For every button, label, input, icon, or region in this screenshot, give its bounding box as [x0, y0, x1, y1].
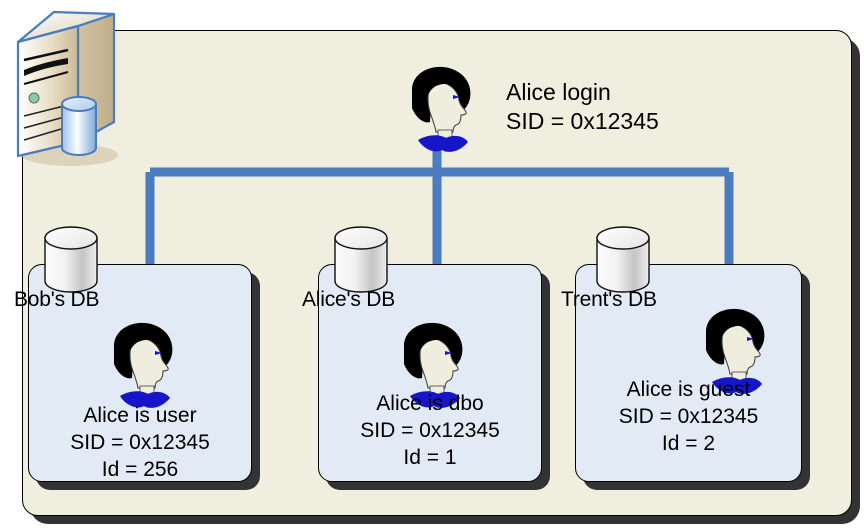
db-detail-line-2: SID = 0x12345 — [318, 417, 542, 444]
db-detail-line-2: SID = 0x12345 — [28, 429, 252, 456]
login-line-2: SID = 0x12345 — [506, 107, 659, 136]
db-label-bobs: Bob's DB — [14, 288, 99, 312]
db-detail-bobs: Alice is user SID = 0x12345 Id = 256 — [28, 402, 252, 483]
person-profile-icon — [100, 318, 184, 410]
db-label-alices: Alice's DB — [302, 288, 395, 312]
db-detail-line-2: SID = 0x12345 — [575, 403, 802, 430]
db-detail-trents: Alice is guest SID = 0x12345 Id = 2 — [575, 376, 802, 457]
db-detail-line-3: Id = 256 — [28, 456, 252, 483]
db-detail-line-3: Id = 2 — [575, 430, 802, 457]
database-cylinder-icon — [330, 225, 392, 297]
server-tower-icon — [4, 4, 132, 172]
login-text: Alice login SID = 0x12345 — [506, 78, 659, 136]
db-detail-line-1: Alice is user — [28, 402, 252, 429]
power-led-icon — [29, 93, 39, 103]
db-detail-line-3: Id = 1 — [318, 444, 542, 471]
database-cylinder-icon — [62, 97, 96, 155]
person-profile-icon — [398, 62, 482, 154]
db-detail-line-1: Alice is dbo — [318, 390, 542, 417]
database-cylinder-icon — [592, 225, 654, 297]
db-detail-line-1: Alice is guest — [575, 376, 802, 403]
login-line-1: Alice login — [506, 78, 659, 107]
diagram-canvas: Alice login SID = 0x12345 Bob's DB — [0, 0, 864, 529]
database-cylinder-icon — [40, 225, 102, 297]
db-label-trents: Trent's DB — [561, 288, 657, 312]
db-detail-alices: Alice is dbo SID = 0x12345 Id = 1 — [318, 390, 542, 471]
